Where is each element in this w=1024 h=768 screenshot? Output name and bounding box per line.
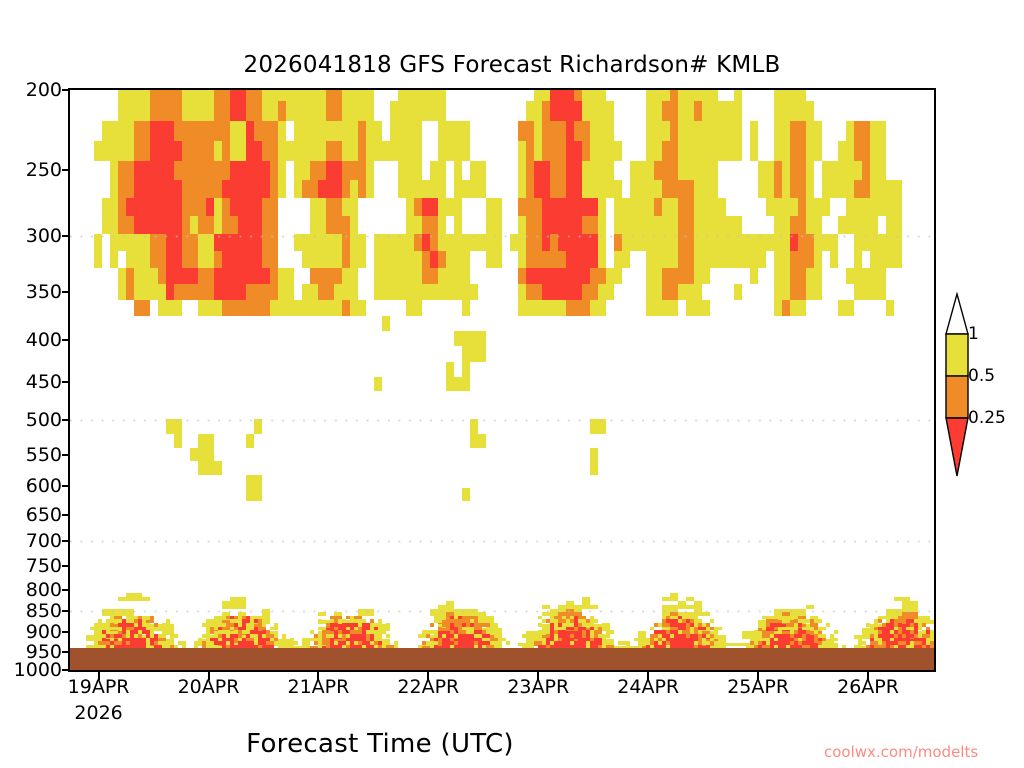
- colorbar-band-0.25-to-0.5: [946, 376, 968, 418]
- colorbar-svg: [940, 292, 1024, 488]
- x-axis-title: Forecast Time (UTC): [0, 729, 760, 759]
- colorbar-band-below-0.25: [946, 418, 968, 476]
- colorbar-band-above-1: [946, 294, 968, 334]
- x-axis-tick: [208, 672, 210, 680]
- x-axis-tick: [757, 672, 759, 680]
- x-axis-tick: [647, 672, 649, 680]
- x-axis-tick: [98, 672, 100, 680]
- x-axis-tick: [427, 672, 429, 680]
- forecast-cross-section-figure: 2026041818 GFS Forecast Richardson# KMLB…: [0, 0, 1024, 768]
- colorbar-tick-label: 1: [968, 324, 979, 344]
- x-axis-tick: [317, 672, 319, 680]
- colorbar-band-0.5-to-1: [946, 334, 968, 376]
- colorbar-tick-label: 0.5: [968, 366, 995, 386]
- x-axis: 19APR20APR21APR22APR23APR24APR25APR26APR…: [0, 0, 1024, 768]
- colorbar-tick-label: 0.25: [968, 408, 1006, 428]
- colorbar: 10.50.25: [940, 292, 1024, 488]
- x-axis-year-label: 2026: [74, 702, 122, 724]
- x-axis-tick: [867, 672, 869, 680]
- x-axis-tick: [537, 672, 539, 680]
- watermark-credit: coolwx.com/modelts: [824, 743, 978, 761]
